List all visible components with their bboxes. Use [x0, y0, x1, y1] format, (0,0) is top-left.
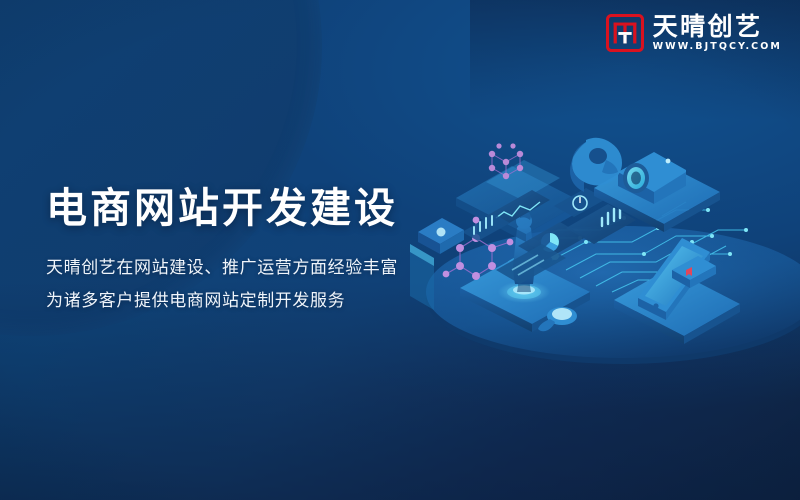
brand-logo[interactable]: 天晴创艺 WWW.BJTQCY.COM — [606, 14, 782, 52]
logo-company-name: 天晴创艺 — [653, 14, 782, 39]
subtitle-line-2: 为诸多客户提供电商网站定制开发服务 — [46, 285, 476, 318]
logo-website-url: WWW.BJTQCY.COM — [653, 42, 782, 52]
subtitle-line-1: 天晴创艺在网站建设、推广运营方面经验丰富 — [46, 252, 476, 285]
copy-block: 电商网站开发建设 天晴创艺在网站建设、推广运营方面经验丰富 为诸多客户提供电商网… — [46, 186, 476, 317]
promo-banner: 天晴创艺 WWW.BJTQCY.COM 电商网站开发建设 天晴创艺在网站建设、推… — [0, 0, 800, 500]
tianqing-chuangyi-logo-mark — [606, 14, 644, 52]
logo-text-block: 天晴创艺 WWW.BJTQCY.COM — [653, 14, 782, 52]
page-title: 电商网站开发建设 — [46, 186, 476, 232]
